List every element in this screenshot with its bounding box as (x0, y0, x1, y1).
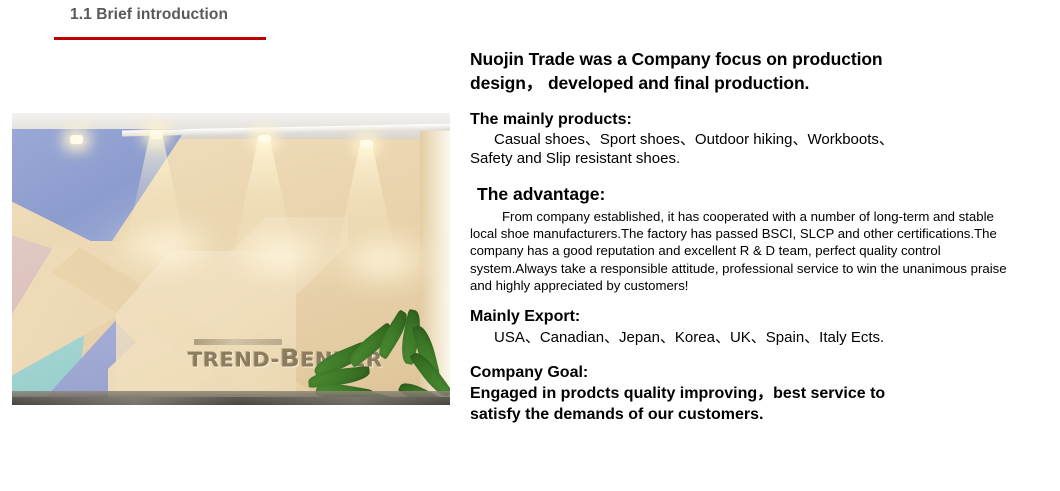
wall-logo-text-left: TREND- (188, 349, 280, 371)
wall-light-pool (226, 225, 336, 283)
section-title-underline (54, 37, 266, 40)
lead-paragraph: Nuojin Trade was a Company focus on prod… (470, 48, 1022, 96)
goal-heading: Company Goal: (470, 362, 1022, 383)
advantage-paragraph: From company established, it has coopera… (470, 208, 1022, 294)
goal-line-1: Engaged in prodcts quality improving，bes… (470, 383, 1022, 404)
products-heading: The mainly products: (470, 110, 1022, 131)
office-lobby-photo: TREND-BENDER (12, 113, 450, 405)
products-line-1-text: Casual shoes、Sport shoes、Outdoor hiking、… (494, 131, 894, 148)
export-heading: Mainly Export: (470, 307, 1022, 328)
goal-block: Company Goal: Engaged in prodcts quality… (470, 362, 1022, 425)
lead-line-2: design， developed and final production. (470, 72, 1022, 96)
wall-logo-text-b: B (280, 345, 300, 373)
lead-line-1: Nuojin Trade was a Company focus on prod… (470, 48, 1022, 72)
introduction-text-column: Nuojin Trade was a Company focus on prod… (470, 48, 1022, 425)
export-body-text: USA、Canadian、Jepan、Korea、UK、Spain、Italy … (494, 329, 884, 346)
wall-light-pool (112, 219, 222, 275)
wall-light-pool (328, 231, 438, 289)
ceiling-spotlight-icon (70, 135, 83, 144)
advantage-heading: The advantage: (470, 183, 1022, 206)
advantage-body-text: From company established, it has coopera… (470, 209, 1007, 293)
products-line-2: Safety and Slip resistant shoes. (470, 150, 1022, 169)
wall-logo-bar (194, 339, 282, 345)
section-title: 1.1 Brief introduction (70, 6, 228, 24)
goal-line-2: satisfy the demands of our customers. (470, 404, 1022, 425)
floor-reflection (12, 397, 450, 405)
products-line-1: Casual shoes、Sport shoes、Outdoor hiking、… (470, 131, 1022, 150)
export-list: USA、Canadian、Jepan、Korea、UK、Spain、Italy … (470, 329, 1022, 348)
products-list: Casual shoes、Sport shoes、Outdoor hiking、… (470, 131, 1022, 169)
